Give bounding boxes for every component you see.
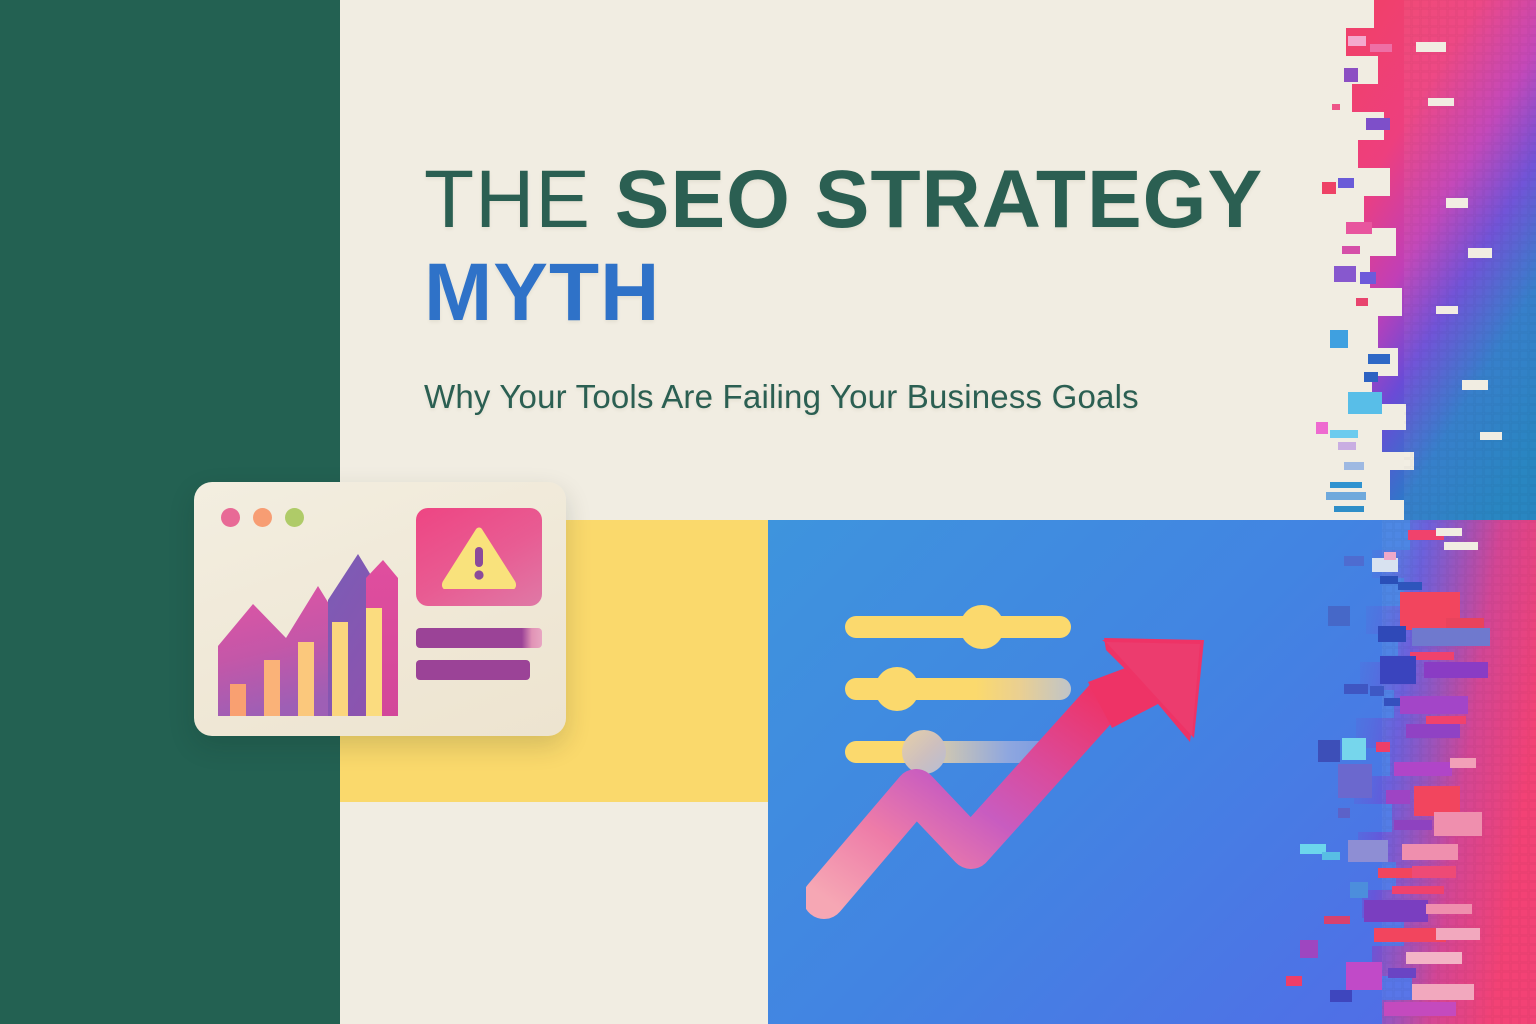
poster-canvas: THE SEO STRATEGY MYTH Why Your Tools Are… (0, 0, 1536, 1024)
glitch-top (1316, 0, 1536, 520)
cream-bottom-block (340, 802, 768, 1024)
warning-triangle-icon (442, 525, 516, 589)
card-text-line-1 (416, 628, 542, 648)
dot-green-icon (285, 508, 304, 527)
card-text-line-2 (416, 660, 530, 680)
window-dots (221, 508, 304, 527)
dashboard-card (194, 482, 566, 736)
headline-line-1: THE SEO STRATEGY (424, 160, 1254, 240)
page-title: THE SEO STRATEGY MYTH (424, 160, 1254, 334)
page-subtitle: Why Your Tools Are Failing Your Business… (424, 378, 1139, 416)
card-bar-chart (208, 538, 404, 718)
growth-arrow-svg (806, 630, 1216, 920)
headline-line-2: MYTH (424, 252, 1254, 334)
headline-word-the: THE (424, 154, 615, 245)
growth-arrow-icon (806, 630, 1216, 920)
headline-word-seo-strategy: SEO STRATEGY (615, 154, 1263, 245)
dot-amber-icon (253, 508, 272, 527)
dot-red-icon (221, 508, 240, 527)
warning-panel (416, 508, 542, 606)
chart-svg (208, 538, 404, 718)
